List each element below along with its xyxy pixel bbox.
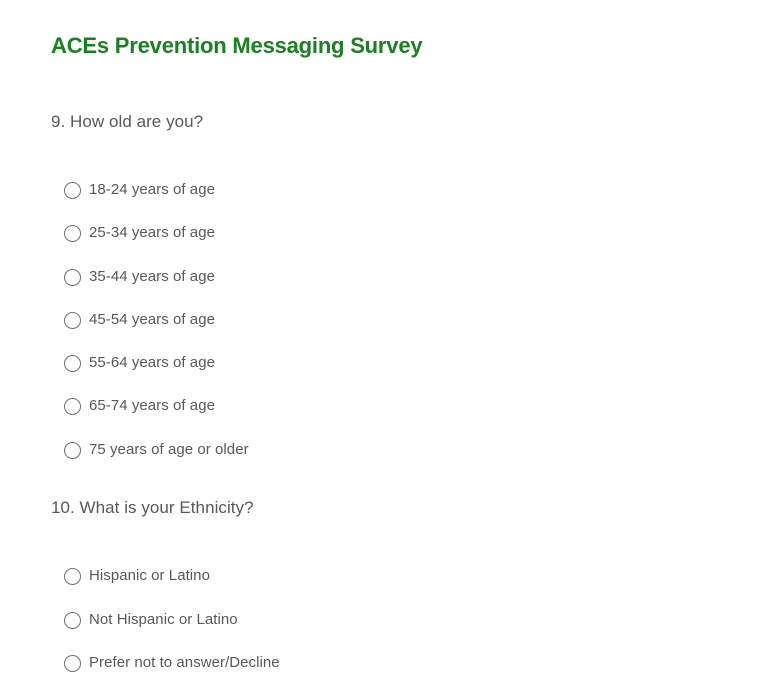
page-title: ACEs Prevention Messaging Survey (51, 32, 422, 59)
radio-button-icon[interactable] (64, 398, 81, 415)
question-block-10: 10. What is your Ethnicity? Hispanic or … (51, 496, 254, 520)
option-row[interactable]: 45-54 years of age (64, 310, 215, 330)
option-label: 25-34 years of age (89, 223, 215, 243)
option-label: 45-54 years of age (89, 310, 215, 330)
question-10-text: 10. What is your Ethnicity? (51, 496, 254, 520)
option-label: Hispanic or Latino (89, 566, 210, 586)
option-label: 35-44 years of age (89, 267, 215, 287)
radio-button-icon[interactable] (64, 655, 81, 672)
radio-button-icon[interactable] (64, 225, 81, 242)
option-row[interactable]: 25-34 years of age (64, 223, 215, 243)
radio-button-icon[interactable] (64, 612, 81, 629)
radio-button-icon[interactable] (64, 568, 81, 585)
option-row[interactable]: Not Hispanic or Latino (64, 610, 238, 630)
option-row[interactable]: 65-74 years of age (64, 396, 215, 416)
question-9-text: 9. How old are you? (51, 110, 203, 134)
option-row[interactable]: 55-64 years of age (64, 353, 215, 373)
option-row[interactable]: 35-44 years of age (64, 267, 215, 287)
question-block-9: 9. How old are you? 18-24 years of age 2… (51, 110, 203, 134)
option-row[interactable]: Prefer not to answer/Decline (64, 653, 280, 673)
option-label: Prefer not to answer/Decline (89, 653, 280, 673)
option-row[interactable]: 18-24 years of age (64, 180, 215, 200)
radio-button-icon[interactable] (64, 269, 81, 286)
option-label: 75 years of age or older (89, 440, 249, 460)
radio-button-icon[interactable] (64, 355, 81, 372)
option-row[interactable]: 75 years of age or older (64, 440, 249, 460)
option-label: 65-74 years of age (89, 396, 215, 416)
option-label: 55-64 years of age (89, 353, 215, 373)
survey-page: ACEs Prevention Messaging Survey 9. How … (0, 0, 767, 685)
option-label: 18-24 years of age (89, 180, 215, 200)
option-label: Not Hispanic or Latino (89, 610, 238, 630)
option-row[interactable]: Hispanic or Latino (64, 566, 210, 586)
radio-button-icon[interactable] (64, 312, 81, 329)
radio-button-icon[interactable] (64, 442, 81, 459)
radio-button-icon[interactable] (64, 182, 81, 199)
